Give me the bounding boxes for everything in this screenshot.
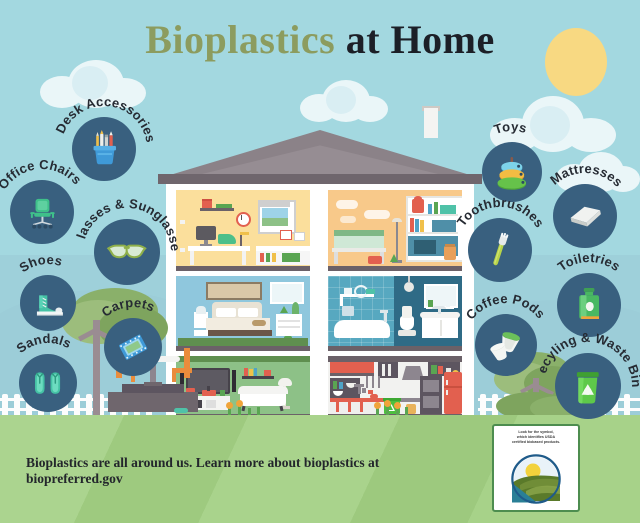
callout-sandals[interactable]: Sandals [0,283,148,483]
cloud-icon [300,80,390,122]
usda-biopreferred-badge: Look for the symbol, which identifies US… [492,424,580,512]
badge-caption-line3: certified biobased products. [498,440,574,445]
infographic-poster: Bioplastics at Home [0,0,640,523]
usda-biopreferred-logo [511,454,561,509]
title-dark: at Home [346,17,495,62]
footer-text: Bioplastics are all around us. Learn mor… [26,455,466,487]
svg-text:Sandals: Sandals [13,331,73,356]
recycle-bin-icon [566,364,610,408]
flip-flops-icon [29,364,67,402]
badge-caption: Look for the symbol, which identifies US… [498,430,574,445]
